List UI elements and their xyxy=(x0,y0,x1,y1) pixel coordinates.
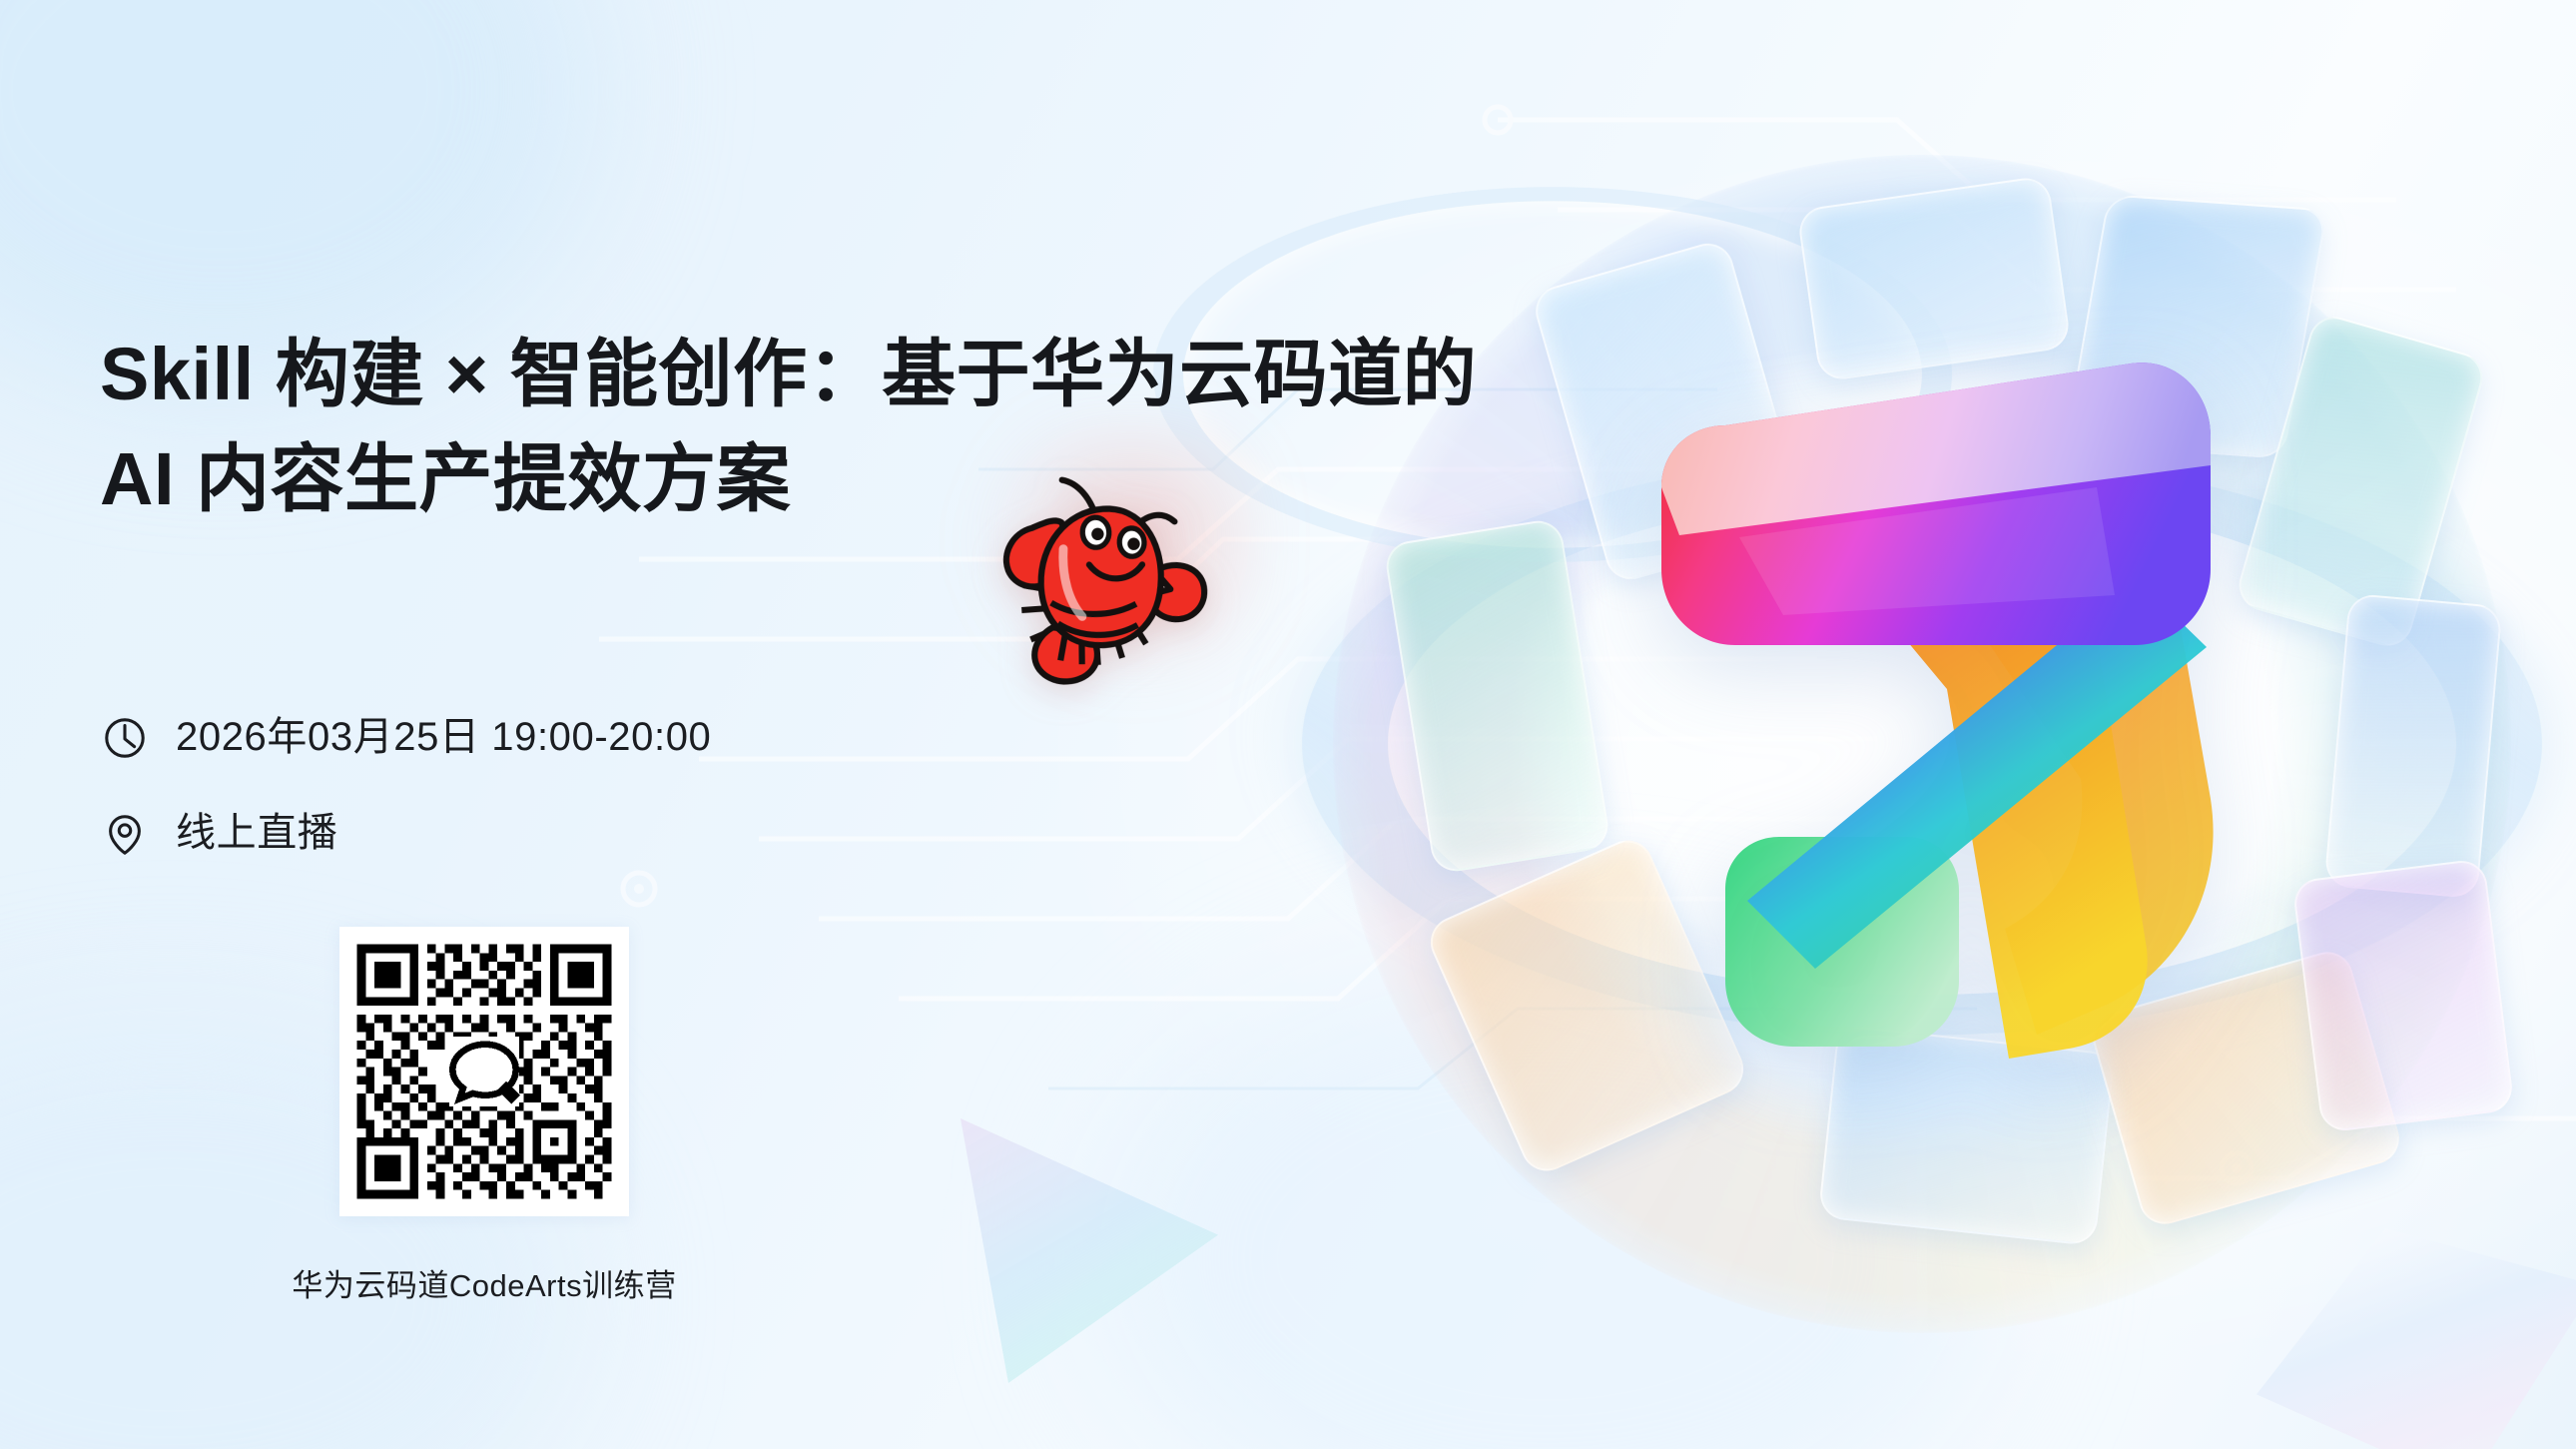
rainbow-ribbon-icon xyxy=(1608,330,2247,1118)
chat-bubble-icon xyxy=(449,1037,520,1106)
qr-code-image[interactable] xyxy=(339,927,629,1216)
event-datetime: 2026年03月25日 19:00-20:00 xyxy=(102,715,711,761)
map-pin-icon xyxy=(102,811,148,857)
glass-blade-right-lower xyxy=(2291,858,2515,1133)
qr-code[interactable] xyxy=(339,927,629,1216)
event-location: 线上直播 xyxy=(102,811,337,857)
event-datetime-text: 2026年03月25日 19:00-20:00 xyxy=(176,717,711,760)
clock-icon xyxy=(102,715,148,761)
event-location-text: 线上直播 xyxy=(176,813,337,856)
page-title: Skill 构建 × 智能创作：基于华为云码道的 AI 内容生产提效方案 xyxy=(100,322,1328,531)
qr-caption: 华为云码道CodeArts训练营 xyxy=(250,1260,719,1305)
glass-blade-right xyxy=(2323,593,2502,899)
title-line-1: Skill 构建 × 智能创作：基于华为云码道的 xyxy=(100,333,1477,415)
title-line-2: AI 内容生产提效方案 xyxy=(100,426,1328,531)
event-banner: Skill 构建 × 智能创作：基于华为云码道的 AI 内容生产提效方案 202… xyxy=(0,0,2576,1449)
hero-graphic xyxy=(1268,80,2576,1408)
content-column: Skill 构建 × 智能创作：基于华为云码道的 AI 内容生产提效方案 202… xyxy=(100,0,1348,1449)
